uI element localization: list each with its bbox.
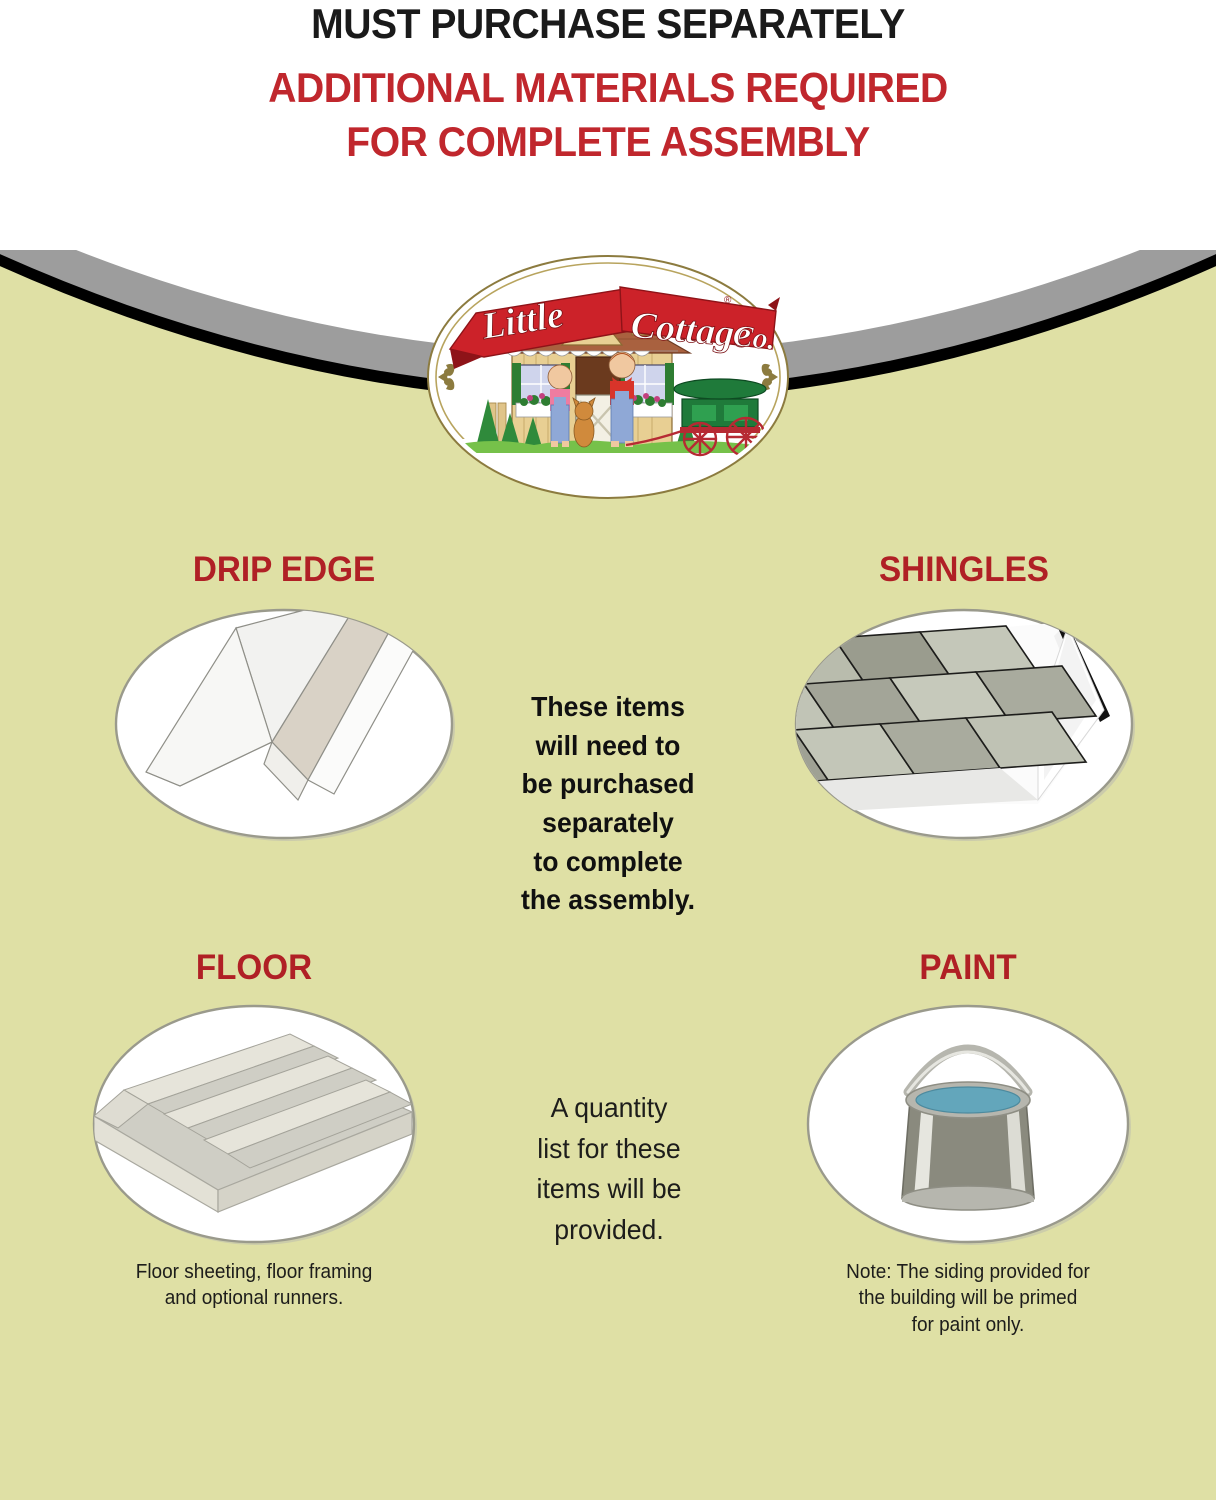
- shingles-illustration: [738, 604, 1190, 849]
- paint-illustration: [742, 1000, 1194, 1253]
- floor-illustration: [28, 1000, 480, 1253]
- header-white-band: MUST PURCHASE SEPARATELY ADDITIONAL MATE…: [0, 0, 1216, 250]
- center-note-top-l6: the assembly.: [473, 881, 743, 920]
- center-note-top-l5: to complete: [473, 843, 743, 882]
- center-note-bottom-l2: list for these: [485, 1129, 734, 1170]
- panel-drip-edge: DRIP EDGE: [58, 550, 510, 849]
- center-note-top-l4: separately: [473, 804, 743, 843]
- panel-paint: PAINT: [742, 948, 1194, 1338]
- center-note-top-l1: These items: [473, 688, 743, 727]
- panel-shingles: SHINGLES: [738, 550, 1190, 849]
- logo-word-co: Co.: [731, 319, 777, 356]
- drip-edge-illustration: [58, 604, 510, 849]
- panel-title-floor: FLOOR: [39, 948, 468, 988]
- caption-paint-l3: for paint only.: [753, 1312, 1182, 1338]
- center-note-top-l3: be purchased: [473, 765, 743, 804]
- center-note-top-l2: will need to: [473, 727, 743, 766]
- caption-floor: Floor sheeting, floor framing and option…: [39, 1259, 468, 1312]
- header-line-must-purchase: MUST PURCHASE SEPARATELY: [43, 2, 1174, 47]
- infographic-page: MUST PURCHASE SEPARATELY ADDITIONAL MATE…: [0, 0, 1216, 1500]
- logo-registered-mark: ®: [724, 295, 732, 306]
- header-line-additional-materials: ADDITIONAL MATERIALS REQUIRED: [43, 66, 1174, 111]
- panel-title-shingles: SHINGLES: [749, 550, 1178, 590]
- panel-title-paint: PAINT: [753, 948, 1182, 988]
- caption-paint-l2: the building will be primed: [753, 1285, 1182, 1311]
- caption-paint-l1: Note: The siding provided for: [753, 1259, 1182, 1285]
- logo-boy: [609, 352, 635, 447]
- header-line-complete-assembly: FOR COMPLETE ASSEMBLY: [43, 120, 1174, 165]
- center-note-bottom-l1: A quantity: [485, 1088, 734, 1129]
- panel-title-drip-edge: DRIP EDGE: [69, 550, 498, 590]
- center-note-bottom: A quantity list for these items will be …: [485, 1088, 734, 1250]
- caption-floor-l1: Floor sheeting, floor framing: [39, 1259, 468, 1285]
- logo-girl: [548, 365, 572, 447]
- center-note-top: These items will need to be purchased se…: [473, 688, 743, 920]
- caption-floor-l2: and optional runners.: [39, 1285, 468, 1311]
- center-note-bottom-l3: items will be: [485, 1169, 734, 1210]
- caption-paint: Note: The siding provided for the buildi…: [753, 1259, 1182, 1338]
- logo-dog: [573, 398, 595, 447]
- center-note-bottom-l4: provided.: [485, 1210, 734, 1251]
- brand-logo: Little Cottage Co. ®: [424, 253, 792, 501]
- panel-floor: FLOOR: [28, 948, 480, 1312]
